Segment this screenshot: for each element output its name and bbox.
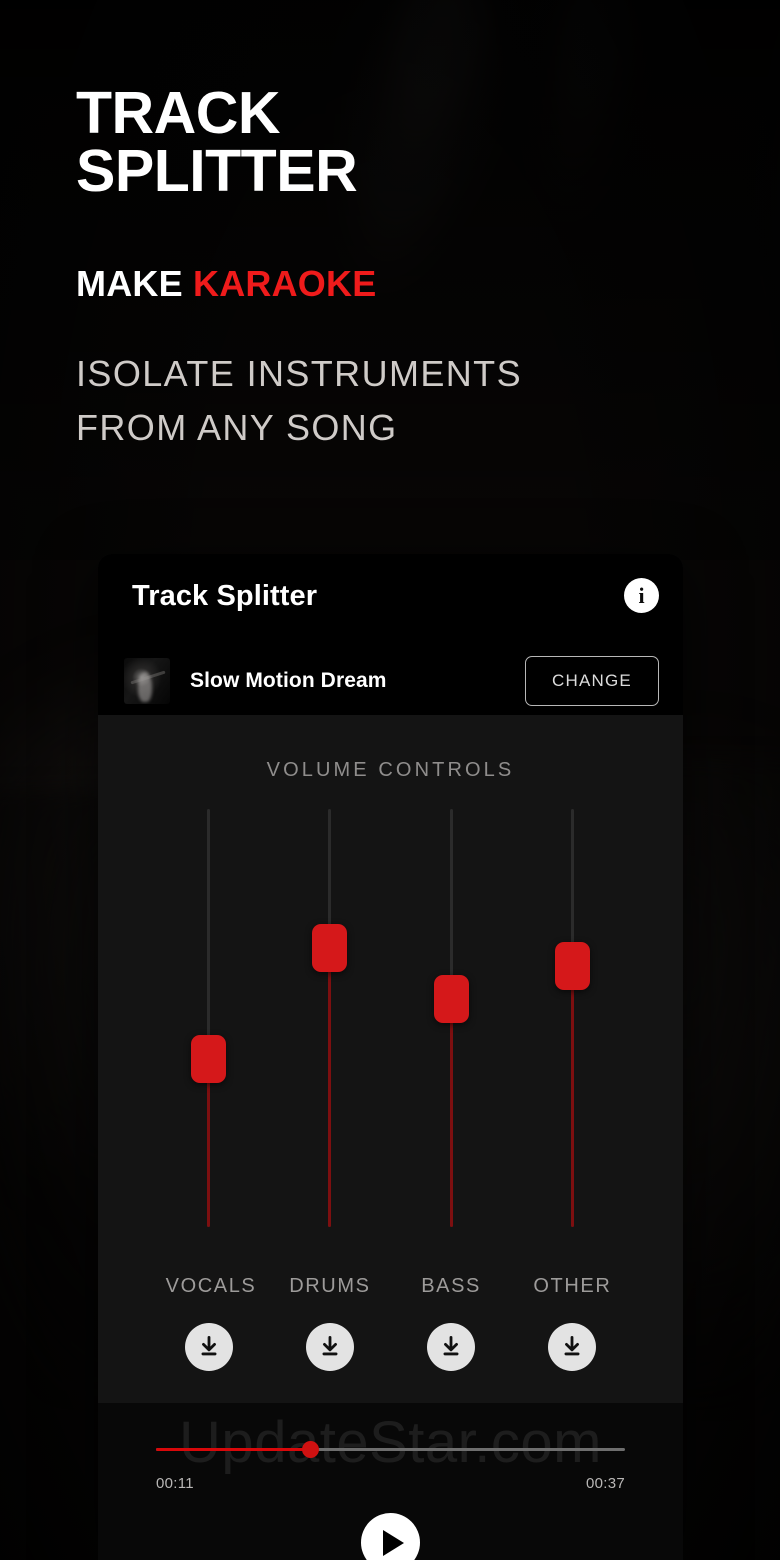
volume-slider-bass[interactable] (408, 809, 494, 1269)
slider-track[interactable] (328, 809, 331, 1227)
slider-track[interactable] (207, 809, 210, 1227)
volume-controls-label: VOLUME CONTROLS (98, 759, 683, 782)
info-icon-glyph: i (638, 585, 644, 607)
download-wrap (408, 1323, 494, 1379)
total-time-label: 00:37 (586, 1475, 625, 1492)
album-art-thumbnail (124, 658, 170, 704)
hero-title-line1: TRACK (76, 84, 736, 142)
hero-tagline: MAKE KARAOKE (76, 263, 736, 305)
hero-tagline-prefix: MAKE (76, 263, 193, 304)
slider-filled-track (328, 948, 331, 1227)
volume-slider-drums[interactable] (287, 809, 373, 1269)
slider-thumb[interactable] (312, 924, 347, 972)
play-icon[interactable] (361, 1513, 420, 1560)
download-icon[interactable] (548, 1323, 596, 1371)
app-title: Track Splitter (132, 580, 317, 613)
play-triangle (383, 1530, 404, 1556)
channel-label: OTHER (529, 1275, 615, 1305)
current-time-label: 00:11 (156, 1475, 194, 1492)
hero-headline: TRACK SPLITTER MAKE KARAOKE ISOLATE INST… (76, 84, 736, 451)
download-wrap (529, 1323, 615, 1379)
watermark: UpdateStar.com (98, 1409, 683, 1476)
app-screenshot-card: Track Splitter i Slow Motion Dream CHANG… (98, 554, 683, 1560)
hero-tagline-accent: KARAOKE (193, 263, 376, 304)
channel-label: BASS (408, 1275, 494, 1305)
download-button-row (98, 1323, 683, 1379)
hero-title-line2: SPLITTER (76, 142, 736, 200)
card-header: Track Splitter i Slow Motion Dream CHANG… (98, 554, 683, 715)
download-wrap (287, 1323, 373, 1379)
download-icon[interactable] (185, 1323, 233, 1371)
hero-subtitle-line1: ISOLATE INSTRUMENTS (76, 351, 736, 397)
slider-thumb[interactable] (434, 975, 469, 1023)
download-icon[interactable] (427, 1323, 475, 1371)
volume-slider-group (98, 809, 683, 1269)
slider-thumb[interactable] (555, 942, 590, 990)
audio-player-bar: UpdateStar.com 00:11 00:37 (98, 1403, 683, 1560)
current-song-row: Slow Motion Dream CHANGE (98, 646, 683, 715)
song-title: Slow Motion Dream (190, 669, 387, 693)
slider-filled-track (207, 1059, 210, 1227)
channel-label: VOCALS (166, 1275, 252, 1305)
seek-bar[interactable] (156, 1448, 625, 1451)
slider-track[interactable] (571, 809, 574, 1227)
channel-label-row: VOCALSDRUMSBASSOTHER (98, 1275, 683, 1305)
channel-label: DRUMS (287, 1275, 373, 1305)
volume-slider-other[interactable] (529, 809, 615, 1269)
hero-subtitle-line2: FROM ANY SONG (76, 405, 736, 451)
slider-thumb[interactable] (191, 1035, 226, 1083)
download-icon[interactable] (306, 1323, 354, 1371)
change-track-button[interactable]: CHANGE (525, 656, 659, 706)
card-body: VOLUME CONTROLS VOCALSDRUMSBASSOTHER (98, 715, 683, 1403)
volume-slider-vocals[interactable] (166, 809, 252, 1269)
slider-filled-track (450, 999, 453, 1227)
info-icon[interactable]: i (624, 578, 659, 613)
slider-filled-track (571, 966, 574, 1227)
seek-thumb[interactable] (302, 1441, 319, 1458)
seek-progress (156, 1448, 311, 1451)
download-wrap (166, 1323, 252, 1379)
